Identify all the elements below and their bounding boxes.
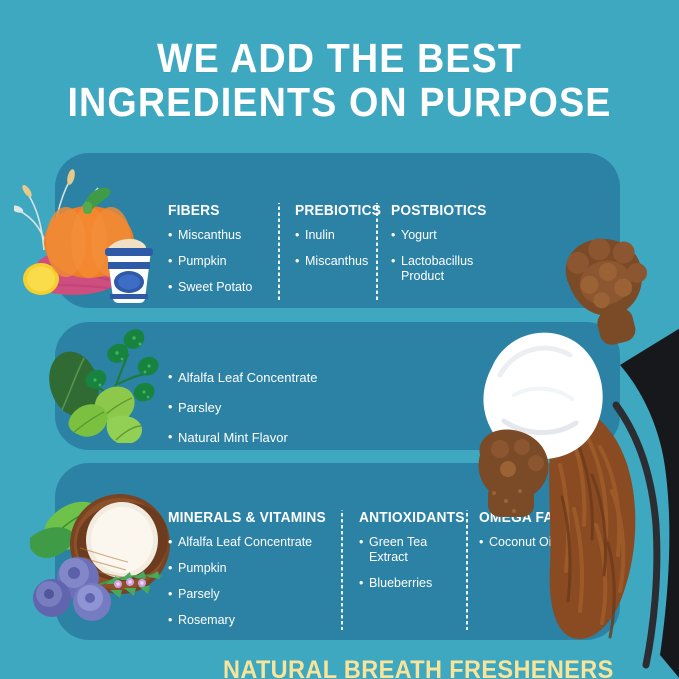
list-item: Parsley — [168, 400, 548, 415]
page-title-line-2: INGREDIENTS ON PURPOSE — [27, 80, 652, 124]
health-column-header-omega-fatty-acids: OMEGA FATTY ACIDS — [479, 510, 607, 526]
gut-column-header-postbiotics: POSTBIOTICS — [391, 203, 500, 219]
breath-items-list: Alfalfa Leaf Concentrate Parsley Natural… — [168, 370, 548, 445]
list-item: Natural Mint Flavor — [168, 430, 548, 445]
column-divider — [278, 203, 280, 300]
breath-list-wrap: Alfalfa Leaf Concentrate Parsley Natural… — [168, 370, 548, 460]
gut-column-header-fibers: FIBERS — [168, 203, 274, 219]
list-item: Blueberries — [359, 576, 464, 591]
gut-postbiotics-list: Yogurt Lactobacillus Product — [391, 228, 506, 284]
health-column-header-minerals-vitamins: MINERALS & VITAMINS — [168, 510, 335, 526]
list-item: Lactobacillus Product — [391, 254, 506, 284]
health-minerals-list: Alfalfa Leaf Concentrate Pumpkin Parsely… — [168, 535, 344, 628]
gut-prebiotics-list: Inulin Miscanthus — [295, 228, 376, 269]
gut-fibers-list: Miscanthus Pumpkin Sweet Potato — [168, 228, 280, 295]
gut-column-postbiotics: POSTBIOTICS Yogurt Lactobacillus Product — [376, 203, 506, 295]
list-item: Rosemary — [168, 613, 344, 628]
health-columns: MINERALS & VITAMINS Alfalfa Leaf Concent… — [168, 510, 618, 639]
list-item: Parsely — [168, 587, 344, 602]
list-item: Alfalfa Leaf Concentrate — [168, 535, 344, 550]
ingredients-infographic: WE ADD THE BEST INGREDIENTS ON PURPOSE G… — [0, 0, 679, 679]
breath-column: Alfalfa Leaf Concentrate Parsley Natural… — [168, 370, 548, 460]
list-item: Inulin — [295, 228, 376, 243]
page-title-line-1: WE ADD THE BEST — [157, 35, 522, 81]
list-item: Sweet Potato — [168, 280, 280, 295]
list-item: Miscanthus — [295, 254, 376, 269]
list-item: Pumpkin — [168, 254, 280, 269]
health-omega-list: Coconut Oil — [479, 535, 614, 550]
column-divider — [466, 510, 468, 630]
gut-column-prebiotics: PREBIOTICS Inulin Miscanthus — [280, 203, 376, 280]
list-item: Green Tea Extract — [359, 535, 464, 565]
health-column-minerals-vitamins: MINERALS & VITAMINS Alfalfa Leaf Concent… — [168, 510, 344, 639]
list-item: Pumpkin — [168, 561, 344, 576]
column-divider — [376, 203, 378, 300]
list-item: Coconut Oil — [479, 535, 614, 550]
gut-columns: FIBERS Miscanthus Pumpkin Sweet Potato P… — [168, 203, 598, 306]
column-divider — [341, 510, 343, 630]
health-antioxidants-list: Green Tea Extract Blueberries — [359, 535, 464, 591]
gut-column-header-prebiotics: PREBIOTICS — [295, 203, 372, 219]
card-title-breath: NATURAL BREATH FRESHENERS — [223, 656, 614, 679]
health-column-omega-fatty-acids: OMEGA FATTY ACIDS Coconut Oil — [464, 510, 614, 561]
list-item: Miscanthus — [168, 228, 280, 243]
list-item: Yogurt — [391, 228, 506, 243]
health-column-header-antioxidants: ANTIOXIDANTS — [359, 510, 459, 526]
gut-column-fibers: FIBERS Miscanthus Pumpkin Sweet Potato — [168, 203, 280, 306]
page-title: WE ADD THE BEST INGREDIENTS ON PURPOSE — [27, 36, 652, 124]
list-item: Alfalfa Leaf Concentrate — [168, 370, 548, 385]
health-column-antioxidants: ANTIOXIDANTS Green Tea Extract Blueberri… — [344, 510, 464, 602]
